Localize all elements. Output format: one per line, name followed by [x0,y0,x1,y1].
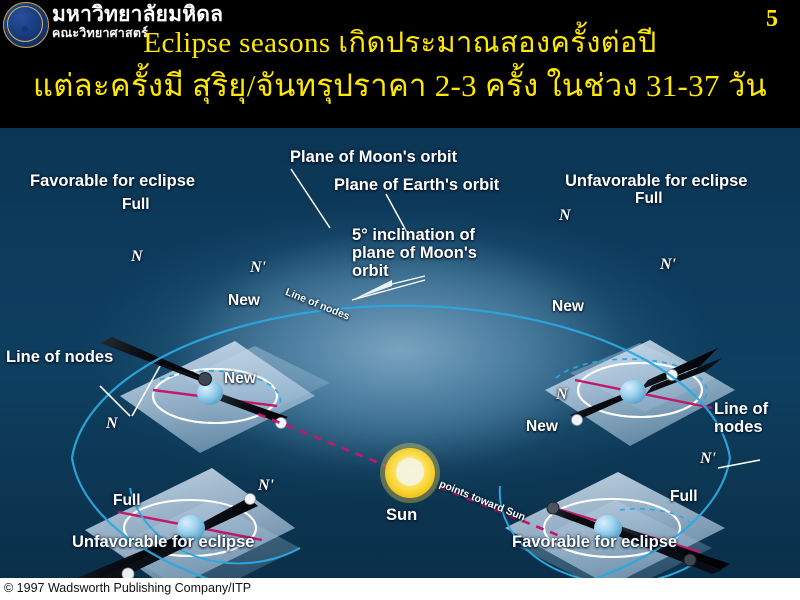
node-n-top-right: N [559,207,571,224]
node-np-top-right: N' [660,256,676,273]
label-line-of-nodes-left: Line of nodes [6,348,113,366]
slide-root: มหาวิทยาลัยมหิดล คณะวิทยาศาสตร์ 5 Eclips… [0,0,800,600]
eclipse-seasons-diagram: Favorable for eclipse Unfavorable for ec… [0,128,800,578]
node-n-top-left: N [131,248,143,265]
phase-new-bottom-right: New [526,418,558,435]
node-np-top-left: N' [250,259,266,276]
university-name: มหาวิทยาลัยมหิดล [52,3,223,26]
node-np-bottom-left: N' [258,477,274,494]
slide-title-line-2: แต่ละครั้งมี สุริยุ/จันทรุปราคา 2-3 ครั้… [0,68,800,104]
phase-full-top-left: Full [122,196,150,213]
copyright-notice: © 1997 Wadsworth Publishing Company/ITP [4,581,251,596]
label-plane-of-moons-orbit: Plane of Moon's orbit [290,148,457,166]
label-inclination: 5° inclination of plane of Moon's orbit [352,226,477,280]
label-plane-of-earths-orbit: Plane of Earth's orbit [334,176,499,194]
caption-bottom-right: Favorable for eclipse [512,533,677,551]
node-n-bottom-right: N [556,386,568,403]
phase-full-top-right: Full [635,190,663,207]
phase-new-top-right: New [552,298,584,315]
label-sun: Sun [386,506,417,524]
caption-bottom-left: Unfavorable for eclipse [72,533,254,551]
caption-top-right: Unfavorable for eclipse [565,172,747,190]
phase-new-top-left: New [228,292,260,309]
node-np-bottom-right: N' [700,450,716,467]
phase-full-bottom-left: Full [113,492,141,509]
slide-title-line-1: Eclipse seasons เกิดประมาณสองครั้งต่อปี [0,26,800,60]
sun-graphic [380,443,440,503]
caption-top-left: Favorable for eclipse [30,172,195,190]
phase-full-bottom-right: Full [670,488,698,505]
phase-new-bottom-left: New [224,370,256,387]
label-line-of-nodes-right: Line of nodes [714,400,768,436]
node-n-bottom-left: N [106,415,118,432]
slide-header: มหาวิทยาลัยมหิดล คณะวิทยาศาสตร์ 5 Eclips… [0,0,800,128]
